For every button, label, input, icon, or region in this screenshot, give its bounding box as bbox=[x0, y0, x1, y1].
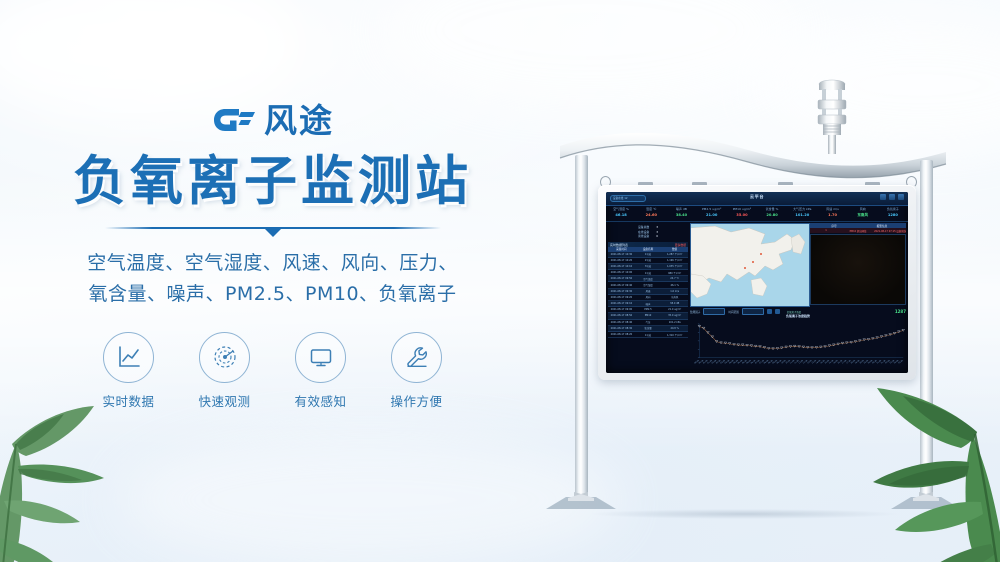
table-cell: 2021-08-17 08:20 bbox=[608, 333, 635, 336]
table-cell: 1号站 bbox=[635, 271, 662, 275]
table-cell: 空气温度 bbox=[635, 277, 662, 281]
table-cell: 35.0 ug/m³ bbox=[661, 314, 688, 317]
table-cell: 气压 bbox=[635, 320, 662, 324]
metric-card: 空气湿度 %46.18 bbox=[606, 205, 636, 221]
table-cell: 1,287 个/cm³ bbox=[661, 252, 688, 256]
table-cell: 46.1 % bbox=[661, 284, 688, 287]
table-cell: 2021-08-17 10:10 bbox=[608, 265, 635, 268]
alarm-cell: PM10 超出阈值 bbox=[842, 229, 874, 233]
table-cell: 2021-08-17 08:40 bbox=[608, 321, 635, 324]
wave-canopy-roof bbox=[558, 128, 948, 180]
table-column-header: 采集时间 bbox=[608, 247, 635, 251]
table-cell: 2021-08-17 08:50 bbox=[608, 314, 635, 317]
subtitle-block: 空气温度、空气湿度、风速、风向、压力、 氧含量、噪声、PM2.5、PM10、负氧… bbox=[0, 248, 545, 310]
table-cell: 20.8 % bbox=[661, 327, 688, 330]
metric-value: 1.70 bbox=[817, 213, 847, 217]
metric-value: 101.20 bbox=[787, 213, 817, 217]
feature-item-easy-operation: 操作方便 bbox=[385, 332, 449, 410]
table-cell: 24.7 ℃ bbox=[661, 277, 688, 280]
table-cell: 风速 bbox=[635, 289, 662, 293]
metric-key: 噪声 dB bbox=[666, 207, 696, 211]
wrench-icon bbox=[391, 332, 442, 383]
table-cell: 2021-08-17 09:40 bbox=[608, 284, 635, 287]
table-cell: 1,196 个/cm³ bbox=[661, 258, 688, 262]
feature-label: 操作方便 bbox=[385, 391, 449, 410]
monitor-icon bbox=[295, 332, 346, 383]
toolbar-icon[interactable] bbox=[898, 194, 904, 200]
table-cell: PM10 bbox=[635, 314, 662, 317]
date-select[interactable] bbox=[742, 308, 764, 315]
table-cell: 空气湿度 bbox=[635, 283, 662, 287]
table-cell: 1号站 bbox=[635, 333, 662, 337]
dashboard-toolbar[interactable] bbox=[880, 194, 904, 200]
table-cell: 3号站 bbox=[635, 264, 662, 268]
table-cell: 2021-08-17 09:00 bbox=[608, 308, 635, 311]
stat-row: 离线设备0 bbox=[608, 234, 688, 239]
table-cell: 2021-08-17 10:30 bbox=[608, 253, 635, 256]
table-cell: 980 个/cm³ bbox=[661, 271, 688, 275]
metric-card: PM2.5 ug/m³21.00 bbox=[697, 205, 727, 221]
brand-logo: 风途 bbox=[0, 96, 545, 144]
table-cell: 2021-08-17 09:10 bbox=[608, 302, 635, 305]
support-post-left bbox=[575, 155, 588, 500]
metric-value: 46.18 bbox=[606, 213, 636, 217]
metric-value: 38.40 bbox=[666, 213, 696, 217]
table-cell: 2021-08-17 09:30 bbox=[608, 290, 635, 293]
metric-key: PM10 ug/m³ bbox=[727, 207, 757, 211]
device-stats: 设备总数3在线设备3离线设备0 bbox=[608, 223, 688, 242]
metric-value: 35.00 bbox=[727, 213, 757, 217]
table-column-header: 数值 bbox=[661, 247, 688, 251]
brand-name: 风途 bbox=[264, 104, 334, 137]
chart-readout: 1287 bbox=[895, 309, 906, 314]
table-heading: 实时数据列表 bbox=[610, 243, 628, 247]
table-cell: 1.6 m/s bbox=[661, 290, 688, 293]
table-cell: 氧含量 bbox=[635, 326, 662, 330]
metric-card: 风速 m/s1.70 bbox=[817, 205, 847, 221]
station-map[interactable] bbox=[690, 223, 810, 307]
table-cell: 2021-08-17 09:50 bbox=[608, 277, 635, 280]
alarm-cell: 2021-08-17 07:15 设备离线 bbox=[874, 229, 906, 233]
more-data-link[interactable]: 更多数据 bbox=[675, 243, 686, 247]
table-cell: PM2.5 bbox=[635, 308, 662, 311]
wind-cloud-logo-icon bbox=[211, 103, 257, 137]
table-cell: 2021-08-17 10:00 bbox=[608, 271, 635, 274]
subtitle-line-1: 空气温度、空气湿度、风速、风向、压力、 bbox=[0, 248, 545, 279]
table-cell: 1,035 个/cm³ bbox=[661, 264, 688, 268]
table-cell: 2号站 bbox=[635, 258, 662, 262]
metric-key: 大气压力 kPa bbox=[787, 207, 817, 211]
stat-value: 0 bbox=[656, 234, 658, 239]
data-table-body[interactable]: 2021-08-17 10:301号站1,287 个/cm³2021-08-17… bbox=[608, 252, 688, 339]
table-cell: 风向 bbox=[635, 295, 662, 299]
metric-value: 1280 bbox=[878, 213, 908, 217]
table-cell: 38.0 dB bbox=[661, 302, 688, 305]
alarm-cell: 1 bbox=[810, 229, 842, 232]
metric-value: 21.00 bbox=[697, 213, 727, 217]
metric-key: 风速 m/s bbox=[817, 207, 847, 211]
title-divider bbox=[105, 225, 441, 237]
metric-key: 空气湿度 % bbox=[606, 207, 636, 211]
divider-triangle-icon bbox=[264, 228, 282, 237]
factor-select[interactable] bbox=[703, 308, 725, 315]
decorative-plant-right bbox=[801, 320, 1000, 562]
right-panel: 序号报警信息 1PM10 超出阈值2021-08-17 07:15 设备离线 bbox=[810, 223, 906, 305]
toolbar-icon[interactable] bbox=[889, 194, 895, 200]
table-cell: 101.2 kPa bbox=[661, 321, 688, 324]
alarm-column-header: 报警信息 bbox=[858, 224, 906, 228]
stat-label: 离线设备 bbox=[638, 234, 649, 239]
metric-card-row: 空气湿度 %46.18温度 ℃24.60噪声 dB38.40PM2.5 ug/m… bbox=[606, 205, 908, 222]
table-cell: 噪声 bbox=[635, 302, 662, 306]
table-cell: 1,310 个/cm³ bbox=[661, 333, 688, 337]
factor-select-label: 监测因子 bbox=[690, 310, 700, 314]
chart-action-button[interactable] bbox=[775, 309, 780, 314]
table-column-headers: 采集时间设备名称数值 bbox=[608, 247, 688, 252]
alarm-column-header: 序号 bbox=[810, 224, 858, 228]
left-panel: 设备总数3在线设备3离线设备0 实时数据列表 更多数据 采集时间设备名称数值 2… bbox=[608, 223, 688, 371]
metric-card: 风向东南风 bbox=[848, 205, 878, 221]
table-cell: 2021-08-17 08:30 bbox=[608, 327, 635, 330]
poster-canvas: 风途 负氧离子监测站 空气温度、空气湿度、风速、风向、压力、 氧含量、噪声、PM… bbox=[0, 0, 1000, 562]
table-cell: 2021-08-17 10:20 bbox=[608, 259, 635, 262]
chart-action-button[interactable] bbox=[767, 309, 772, 314]
decorative-plant-left bbox=[0, 326, 212, 562]
table-cell: 21.0 ug/m³ bbox=[661, 308, 688, 311]
metric-card: PM10 ug/m³35.00 bbox=[727, 205, 757, 221]
chart-legend: 负氧离子浓度 bbox=[787, 310, 801, 314]
page-title: 负氧离子监测站 bbox=[0, 152, 545, 211]
toolbar-icon[interactable] bbox=[880, 194, 886, 200]
metric-key: 温度 ℃ bbox=[636, 207, 666, 211]
subtitle-line-2: 氧含量、噪声、PM2.5、PM10、负氧离子 bbox=[0, 279, 545, 310]
metric-value: 20.80 bbox=[757, 213, 787, 217]
feature-item-effective-sensing: 有效感知 bbox=[289, 332, 353, 410]
dashboard-header: 设备在线 12 云平台 bbox=[606, 192, 908, 206]
alarm-table-header: 序号报警信息 bbox=[810, 223, 906, 228]
table-cell: 东南风 bbox=[661, 295, 688, 299]
metric-value: 24.60 bbox=[636, 213, 666, 217]
date-select-label: 时间范围 bbox=[728, 310, 738, 314]
metric-card: 氧含量 %20.80 bbox=[757, 205, 787, 221]
metric-card: 温度 ℃24.60 bbox=[636, 205, 666, 221]
metric-card: 负氧离子1280 bbox=[878, 205, 908, 221]
video-feed[interactable] bbox=[810, 234, 906, 305]
metric-key: 风向 bbox=[848, 207, 878, 211]
dashboard-title: 云平台 bbox=[606, 194, 908, 200]
metric-key: 氧含量 % bbox=[757, 207, 787, 211]
feature-label: 有效感知 bbox=[289, 391, 353, 410]
metric-value: 东南风 bbox=[848, 213, 878, 218]
metric-card: 噪声 dB38.40 bbox=[666, 205, 696, 221]
metric-key: 负氧离子 bbox=[878, 207, 908, 211]
metric-key: PM2.5 ug/m³ bbox=[697, 207, 727, 211]
alarm-row[interactable]: 1PM10 超出阈值2021-08-17 07:15 设备离线 bbox=[810, 228, 906, 233]
table-cell: 1号站 bbox=[635, 252, 662, 256]
table-cell: 2021-08-17 09:20 bbox=[608, 296, 635, 299]
table-column-header: 设备名称 bbox=[635, 247, 662, 251]
metric-card: 大气压力 kPa101.20 bbox=[787, 205, 817, 221]
table-row[interactable]: 2021-08-17 08:201号站1,310 个/cm³ bbox=[608, 332, 688, 338]
